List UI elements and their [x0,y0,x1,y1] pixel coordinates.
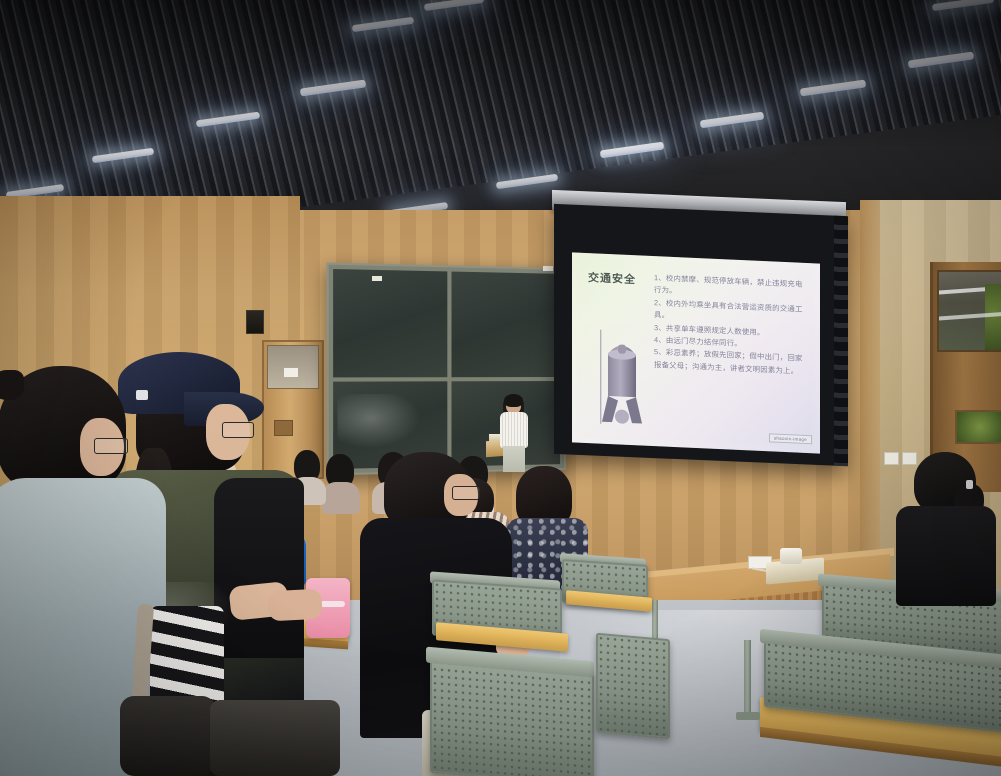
seat-foot [736,712,760,720]
board-clip [372,276,382,281]
presenter-blouse [500,412,528,448]
blackboard-panel-2 [451,272,560,378]
blackboard-panel-1 [333,269,447,378]
shoulder-bag [120,696,216,776]
board-clip [543,266,553,271]
slide-watermark: shaoxin-image [769,433,812,444]
seat-back[interactable] [596,633,670,739]
slide-illustration-bell-object [594,323,650,430]
presenter-hair [504,394,523,407]
seated-figure-lower [210,700,340,776]
slide-body: 1、校内禁摩、规范停放车辆，禁止违规充电行为。 2、校内外均乘坐具有合法营运资质… [654,272,806,378]
hand [267,589,322,622]
classroom-photo: 交通安全 1、校内禁摩、规范停放车辆，禁止违规充电行为。 2、校内外均乘坐具有合… [0,0,1001,776]
foliage-outside [985,284,1001,352]
door-upper-glass [937,270,1001,352]
wall-speaker-icon [246,310,264,334]
slide-title: 交通安全 [588,269,636,287]
seat-leg [744,640,751,714]
hair-clip [966,480,973,489]
door-vision-panel [955,410,1001,444]
hair-tuft [0,370,24,400]
desk-device [780,548,802,564]
student-right-black [896,452,992,602]
projected-slide: 交通安全 1、校内禁摩、规范停放车辆，禁止违规充电行为。 2、校内外均乘坐具有合… [572,252,820,453]
